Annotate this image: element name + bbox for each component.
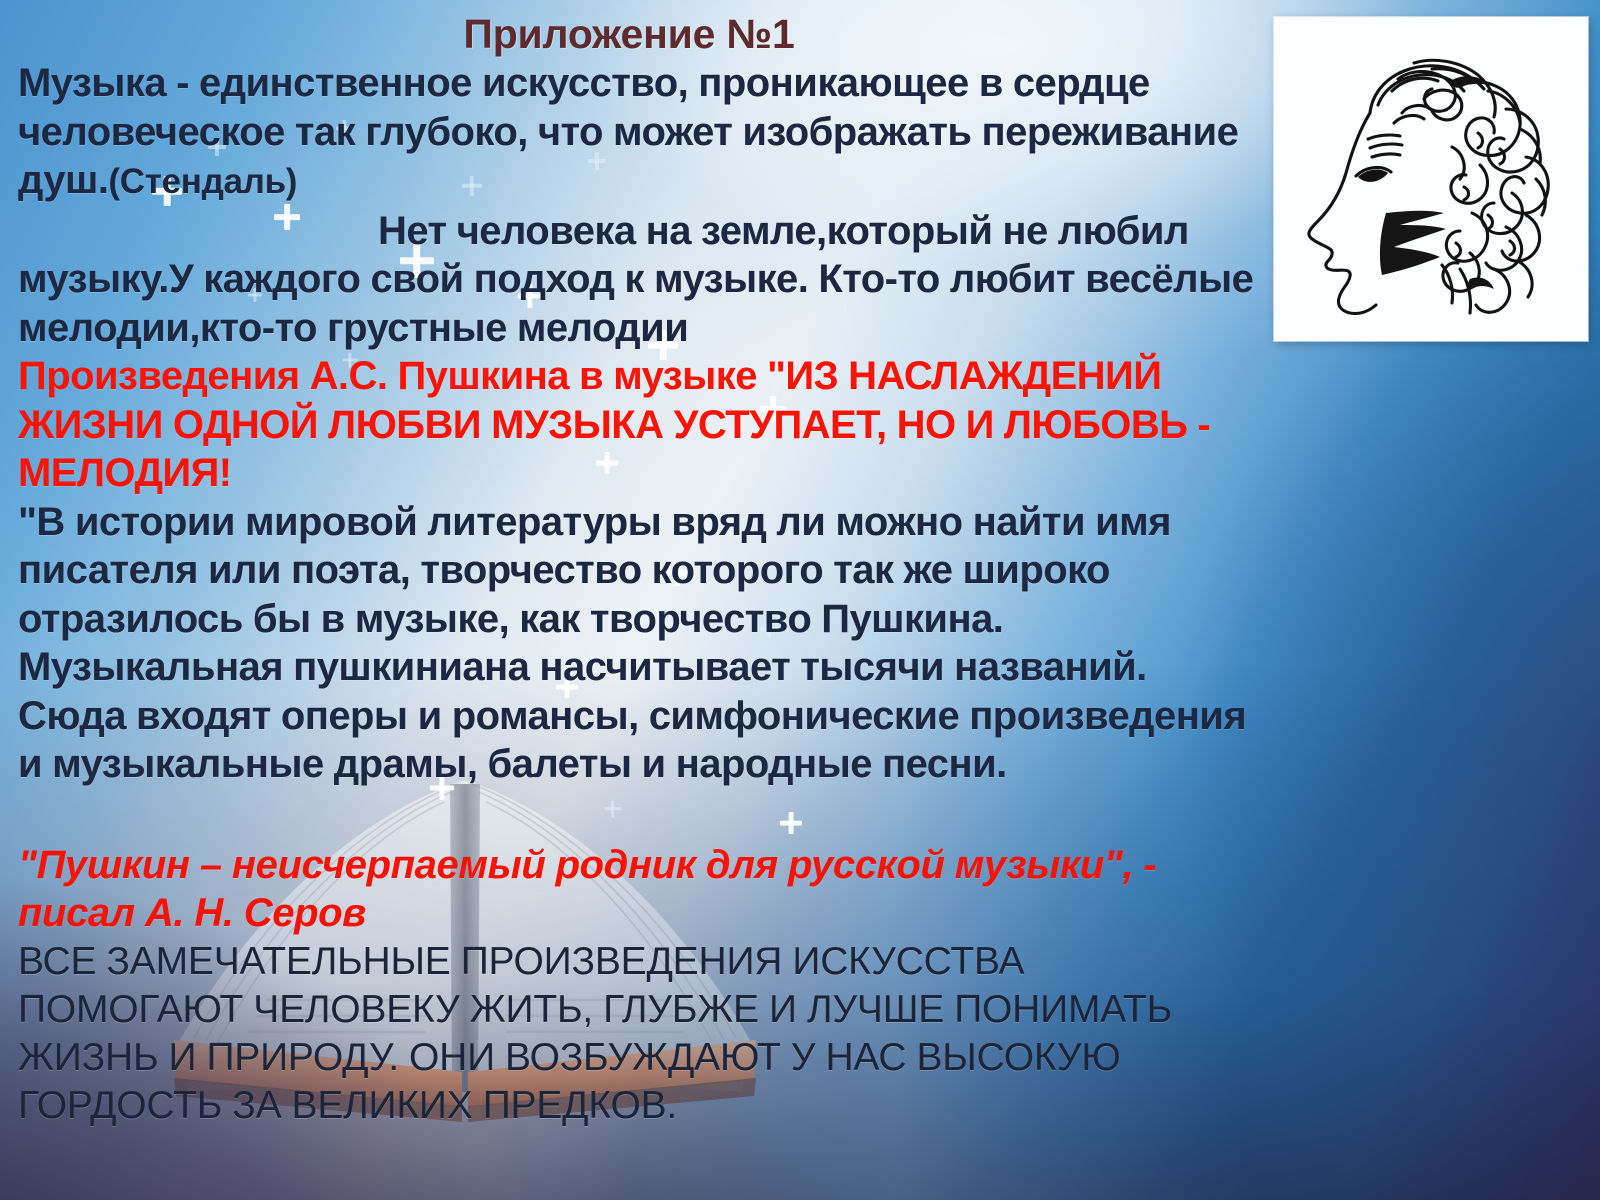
paragraph-everyone-loves-music: Нет человека на земле,который не любил м… (18, 207, 1258, 353)
pushkin-portrait-image (1274, 17, 1588, 341)
slide-text-content: Приложение №1 Музыка - единственное иску… (0, 0, 1258, 1130)
serov-quote-text: "Пушкин – неисчерпаемый родник для русск… (18, 843, 1156, 936)
page-title: Приложение №1 (0, 0, 1258, 55)
presentation-slide: Приложение №1 Музыка - единственное иску… (0, 0, 1600, 1200)
pushkin-in-music-text: Произведения А.С. Пушкина в музыке "ИЗ Н… (18, 354, 1210, 495)
stendhal-attribution: (Стендаль) (108, 162, 297, 201)
pushkin-profile-drawing (1274, 17, 1588, 341)
pushkiniana-text: "В истории мировой литературы вряд ли мо… (18, 500, 1246, 787)
paragraph-spacer (18, 789, 1258, 841)
slide-body: Музыка - единственное искусство, проника… (0, 55, 1258, 1130)
everyone-loves-music-text: Нет человека на земле,который не любил м… (18, 209, 1253, 350)
paragraph-pushkiniana: "В истории мировой литературы вряд ли мо… (18, 498, 1258, 789)
paragraph-serov-quote: "Пушкин – неисчерпаемый родник для русск… (18, 841, 1258, 938)
paragraph-closing-caps: ВСЕ ЗАМЕЧАТЕЛЬНЫЕ ПРОИЗВЕДЕНИЯ ИСКУССТВА… (18, 938, 1258, 1130)
paragraph-pushkin-in-music-highlight: Произведения А.С. Пушкина в музыке "ИЗ Н… (18, 352, 1258, 498)
closing-caps-text: ВСЕ ЗАМЕЧАТЕЛЬНЫЕ ПРОИЗВЕДЕНИЯ ИСКУССТВА… (18, 940, 1172, 1127)
paragraph-stendhal: Музыка - единственное искусство, проника… (18, 59, 1258, 207)
